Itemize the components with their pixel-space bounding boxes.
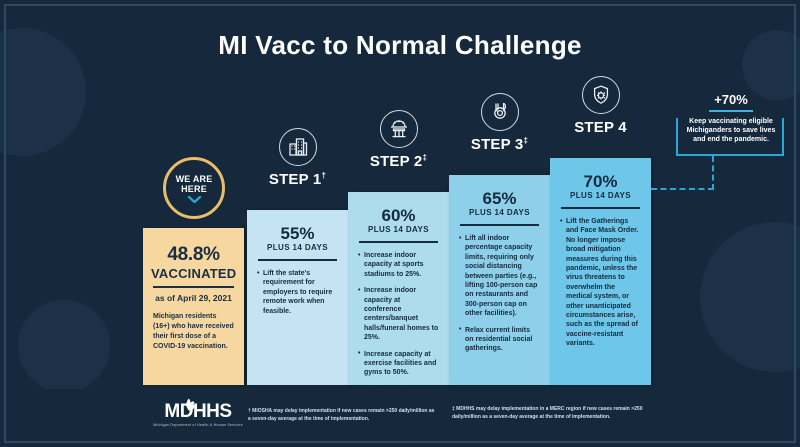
- step-header-1: STEP 1†: [247, 128, 348, 188]
- connector-line-vertical: [712, 156, 714, 190]
- step-percent-4: 70%: [558, 172, 643, 192]
- list-item: Lift the Gatherings and Face Mask Order.…: [560, 217, 641, 349]
- we-are-here-line1: WE ARE: [176, 174, 213, 184]
- divider: [561, 207, 640, 209]
- step-column-1: 55% PLUS 14 DAYS Lift the state's requir…: [247, 210, 348, 385]
- step-name-text-2: STEP 2: [370, 153, 423, 170]
- step-name-text-1: STEP 1: [269, 171, 322, 188]
- step-column-2: 60% PLUS 14 DAYS Increase indoor capacit…: [348, 192, 449, 385]
- step-name-3: STEP 3‡: [449, 136, 550, 153]
- virus-decoration-icon: [700, 222, 800, 372]
- step-column-3: 65% PLUS 14 DAYS Lift all indoor percent…: [449, 175, 550, 385]
- page-title: MI Vacc to Normal Challenge: [0, 30, 800, 61]
- callout-bracket: [676, 118, 784, 156]
- step-plus-days-4: PLUS 14 DAYS: [558, 191, 643, 200]
- step-bullets-4: Lift the Gatherings and Face Mask Order.…: [558, 217, 643, 349]
- step-header-2: STEP 2‡: [348, 110, 449, 170]
- step-plus-days-1: PLUS 14 DAYS: [255, 243, 340, 252]
- infographic-canvas: MI Vacc to Normal Challenge WE ARE HERE …: [0, 0, 800, 447]
- step-header-3: STEP 3‡: [449, 93, 550, 153]
- mdhhs-logo-subtitle: Michigan Department of Health & Human Se…: [152, 423, 244, 427]
- step-name-4: STEP 4: [550, 119, 651, 136]
- dining-plate-icon: [481, 93, 519, 131]
- step-column-4: 70% PLUS 14 DAYS Lift the Gatherings and…: [550, 158, 651, 385]
- connector-line-horizontal: [651, 188, 714, 190]
- step-percent-2: 60%: [356, 206, 441, 226]
- current-as-of-date: as of April 29, 2021: [151, 293, 236, 303]
- step-footnote-marker-3: ‡: [523, 136, 528, 145]
- step-bullets-2: Increase indoor capacity at sports stadi…: [356, 251, 441, 404]
- list-item: Lift the state's requirement for employe…: [257, 269, 338, 316]
- chevron-down-icon: [188, 196, 201, 203]
- list-item: Increase indoor capacity at sports stadi…: [358, 251, 439, 279]
- step-percent-3: 65%: [457, 189, 542, 209]
- step-plus-days-3: PLUS 14 DAYS: [457, 208, 542, 217]
- list-item: Lift all indoor percentage capacity limi…: [459, 234, 540, 319]
- step-footnote-marker-2: ‡: [422, 153, 427, 162]
- list-item: Increase capacity at exercise facilities…: [358, 350, 439, 378]
- divider: [460, 224, 539, 226]
- mdhhs-logo-word: MDHHS: [164, 401, 231, 422]
- current-percent: 48.8%: [151, 244, 236, 266]
- step-name-text-3: STEP 3: [471, 136, 524, 153]
- shield-virus-icon: [582, 76, 620, 114]
- divider: [709, 110, 753, 112]
- virus-decoration-icon: [18, 300, 110, 392]
- current-description: Michigan residents (16+) who have receiv…: [151, 312, 236, 352]
- step-footnote-marker-1: †: [321, 171, 326, 180]
- office-building-icon: [279, 128, 317, 166]
- step-bullets-1: Lift the state's requirement for employe…: [255, 269, 340, 316]
- footnote-2: ‡ MDHHS may delay implementation in a ME…: [452, 405, 657, 421]
- divider: [153, 286, 234, 288]
- step-name-text-4: STEP 4: [574, 119, 627, 136]
- callout-percent: +70%: [672, 92, 790, 107]
- stadium-icon: [380, 110, 418, 148]
- michigan-state-icon: [184, 398, 197, 413]
- current-status-column: 48.8% VACCINATED as of April 29, 2021 Mi…: [143, 228, 244, 385]
- list-item: Increase indoor capacity at conference c…: [358, 286, 439, 342]
- divider: [359, 241, 438, 243]
- mdhhs-logo-text: MDHHS: [164, 402, 231, 422]
- step-percent-1: 55%: [255, 224, 340, 244]
- step-name-1: STEP 1†: [247, 171, 348, 188]
- step-header-4: STEP 4: [550, 76, 651, 136]
- step-name-2: STEP 2‡: [348, 153, 449, 170]
- mdhhs-logo: MDHHS Michigan Department of Health & Hu…: [152, 402, 244, 427]
- footnote-1: † MIOSHA may delay implementation if new…: [248, 407, 438, 423]
- step-bullets-3: Lift all indoor percentage capacity limi…: [457, 234, 542, 354]
- we-are-here-line2: HERE: [181, 184, 207, 194]
- current-label: VACCINATED: [151, 266, 236, 281]
- step-plus-days-2: PLUS 14 DAYS: [356, 225, 441, 234]
- list-item: Relax current limits on residential soci…: [459, 326, 540, 354]
- we-are-here-badge: WE ARE HERE: [163, 157, 225, 219]
- divider: [258, 259, 337, 261]
